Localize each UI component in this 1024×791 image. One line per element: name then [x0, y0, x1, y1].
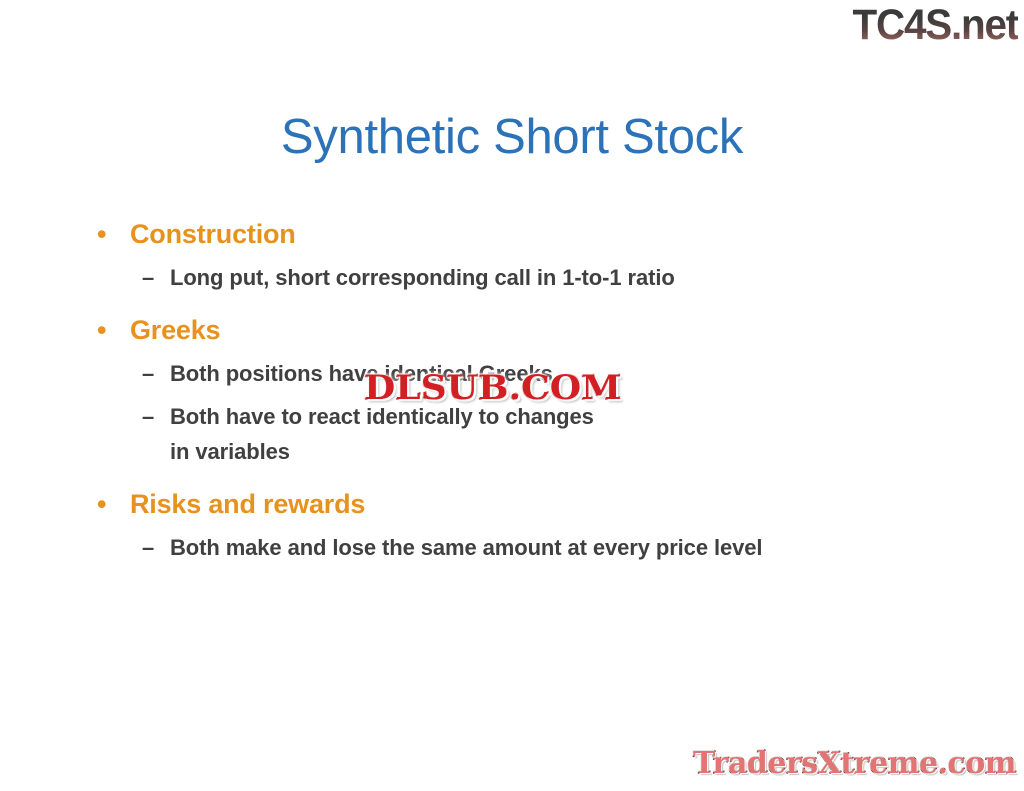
bullet-level1-construction: • Construction [92, 216, 952, 252]
tc4s-brand-logo: TC4S.net [853, 2, 1018, 48]
dash-bullet-icon: – [142, 356, 154, 391]
dash-bullet-icon: – [142, 260, 154, 295]
bullet-level2-label: Both make and lose the same amount at ev… [170, 530, 952, 565]
bullet-level2-label: Long put, short corresponding call in 1-… [170, 260, 952, 295]
bullet-level1-greeks: • Greeks [92, 312, 952, 348]
presentation-slide: TC4S.net Synthetic Short Stock • Constru… [0, 0, 1024, 791]
bullet-level2-label-continued: in variables [170, 434, 952, 469]
bullet-level1-label: Greeks [130, 315, 220, 345]
slide-body-content: • Construction – Long put, short corresp… [92, 216, 952, 565]
slide-title: Synthetic Short Stock [0, 108, 1024, 166]
bullet-level2-item: – Both make and lose the same amount at … [92, 530, 952, 565]
bullet-level2-item: – Both have to react identically to chan… [92, 399, 952, 469]
bullet-level2-label: Both positions have identical Greeks [170, 356, 952, 391]
bullet-level2-item: – Both positions have identical Greeks [92, 356, 952, 391]
bullet-level2-item: – Long put, short corresponding call in … [92, 260, 952, 295]
bullet-dot-icon: • [97, 312, 111, 348]
dash-bullet-icon: – [142, 399, 154, 434]
bullet-level1-risks-and-rewards: • Risks and rewards [92, 486, 952, 522]
bullet-level1-label: Construction [130, 219, 296, 249]
tradersxtreme-brand-logo: TradersXtreme.com [693, 745, 1016, 783]
bullet-dot-icon: • [97, 216, 111, 252]
bullet-level1-label: Risks and rewards [130, 489, 365, 519]
dash-bullet-icon: – [142, 530, 154, 565]
bullet-dot-icon: • [97, 486, 111, 522]
bullet-level2-label: Both have to react identically to change… [170, 399, 952, 434]
